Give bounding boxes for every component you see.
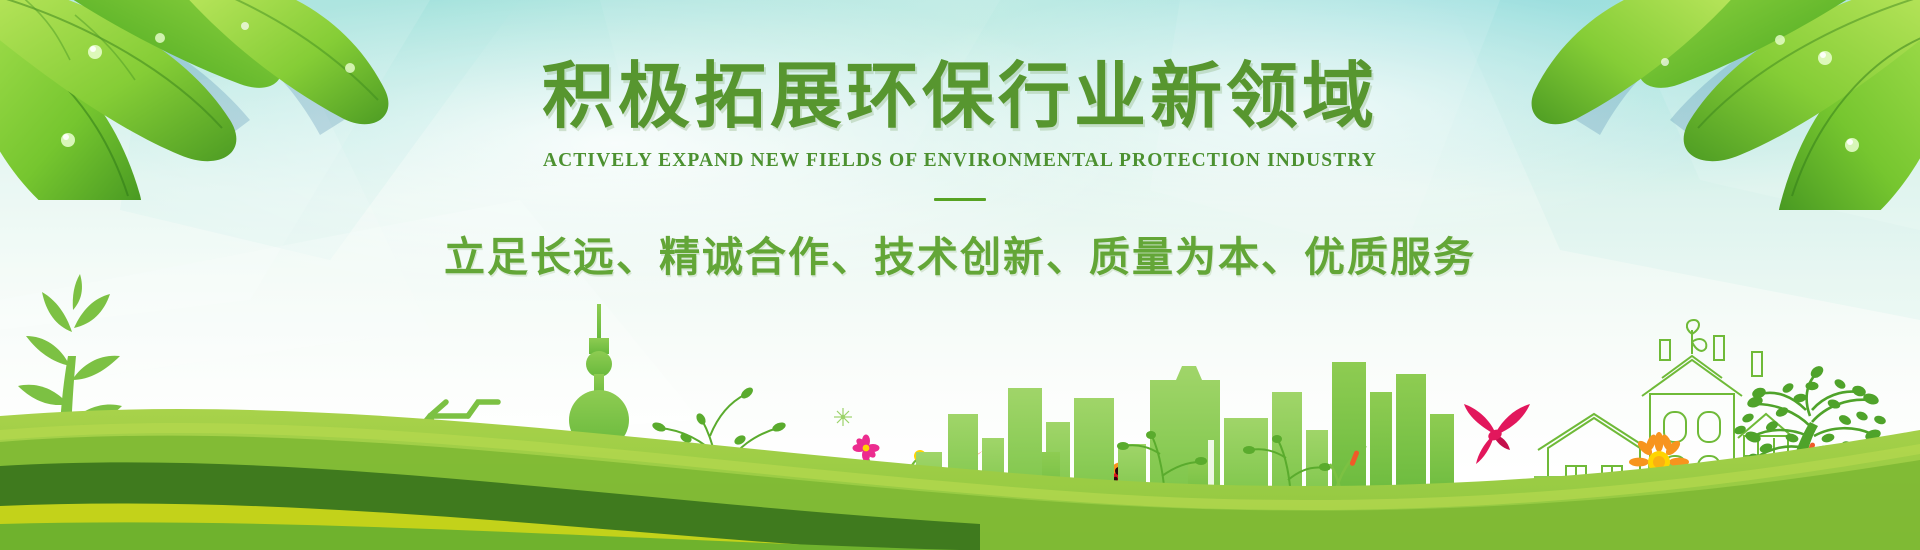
banner-text-block: 积极拓展环保行业新领域 ACTIVELY EXPAND NEW FIELDS O… xyxy=(0,0,1920,283)
eco-city-scene xyxy=(0,270,1920,550)
dandelion-icon xyxy=(834,408,852,426)
page-subtitle: ACTIVELY EXPAND NEW FIELDS OF ENVIRONMEN… xyxy=(0,150,1920,172)
hummingbird-icon xyxy=(1464,404,1530,464)
title-divider xyxy=(934,198,986,201)
page-title: 积极拓展环保行业新领域 xyxy=(0,0,1920,136)
eco-banner: 积极拓展环保行业新领域 ACTIVELY EXPAND NEW FIELDS O… xyxy=(0,0,1920,550)
